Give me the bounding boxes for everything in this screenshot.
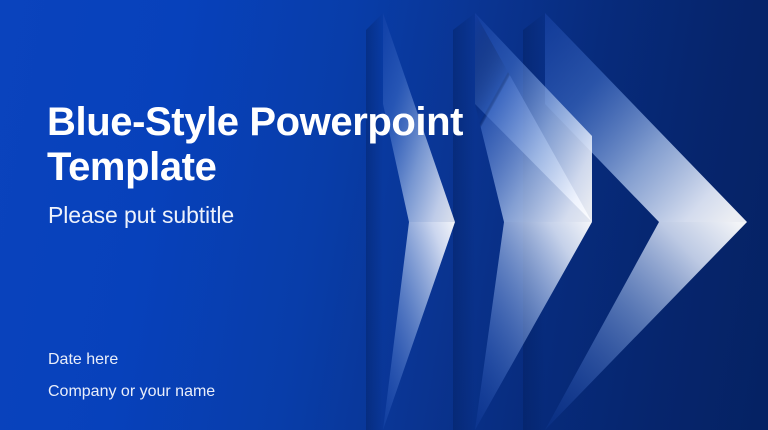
page-title: Blue-Style Powerpoint Template xyxy=(47,100,517,190)
slide-company: Company or your name xyxy=(48,381,215,403)
slide-text-layer: Blue-Style Powerpoint Template Please pu… xyxy=(0,0,768,430)
slide-date: Date here xyxy=(48,349,118,371)
slide-subtitle: Please put subtitle xyxy=(48,200,234,230)
title-slide: Blue-Style Powerpoint Template Please pu… xyxy=(0,0,768,430)
